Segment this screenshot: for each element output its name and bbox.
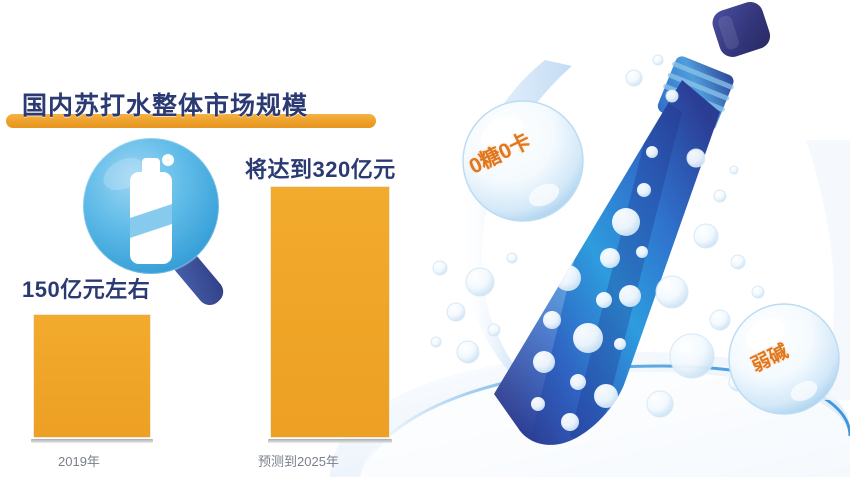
bar-2019 <box>33 314 151 438</box>
bar-2025-forecast-shadow <box>268 439 392 443</box>
page-title: 国内苏打水整体市场规模 <box>22 86 308 122</box>
axis-tick-label-2019: 2019年 <box>58 451 100 470</box>
bar-value-label-2025: 将达到320亿元 <box>245 152 396 184</box>
bar-2019-shadow <box>31 439 153 443</box>
magnifier-bottle-icon <box>72 132 252 312</box>
bar-2025-forecast <box>270 186 390 438</box>
infographic-canvas: 国内苏打水整体市场规模 150亿元左右 将达到320亿元 2019年 预测到20… <box>0 0 850 477</box>
axis-tick-label-2025: 预测到2025年 <box>258 451 339 470</box>
bottle-cap-icon <box>709 0 773 60</box>
